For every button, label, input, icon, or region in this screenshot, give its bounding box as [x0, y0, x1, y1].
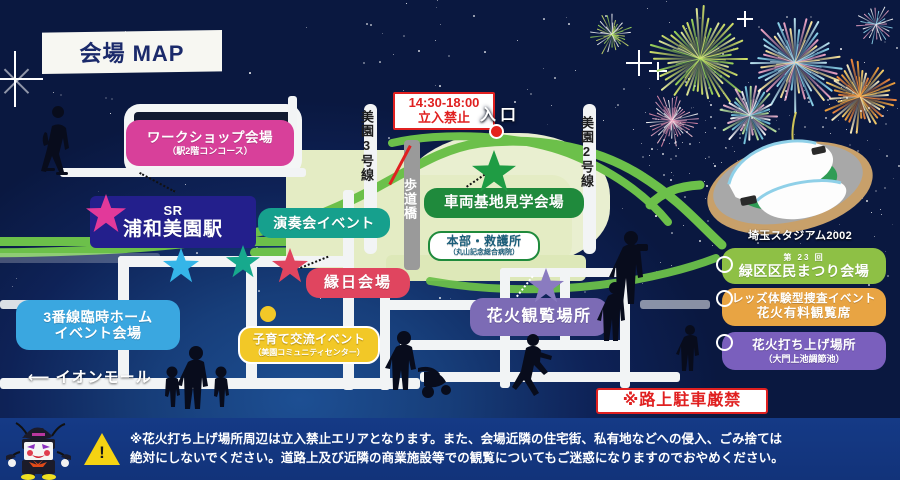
warning-triangle-icon: !	[84, 433, 120, 465]
legend-reds-sub: 花火有料観覧席	[757, 306, 852, 320]
venue-depot[interactable]: 車両基地見学会場	[424, 188, 584, 218]
restriction-text: 立入禁止	[418, 111, 470, 126]
page-title: 会場 MAP	[79, 36, 184, 68]
aeon-mall-direction: ⟵ イオンモール	[28, 366, 152, 387]
footer-notice-line1: ※花火打ち上げ場所周辺は立入禁止エリアとなります。また、会場近隣の住宅街、私有地…	[130, 430, 784, 449]
street-label-misono2: 美園2号線	[580, 116, 593, 188]
venue-hq[interactable]: 本部・救護所 （丸山記念総合病院）	[428, 231, 540, 261]
legend-launch-title: 花火打ち上げ場所	[752, 338, 856, 352]
venue-kosodate-sub: （美園コミュニティセンター）	[253, 348, 365, 357]
venue-concert[interactable]: 演奏会イベント	[258, 208, 390, 238]
venue-station-sub: 浦和美園駅	[123, 219, 223, 241]
legend-marker-circle	[716, 290, 733, 307]
legend-marker-circle	[716, 256, 733, 273]
venue-concert-title: 演奏会イベント	[273, 215, 375, 231]
legend-midori-title: 緑区区民まつり会場	[739, 263, 870, 279]
venue-kosodate[interactable]: 子育て交流イベント （美園コミュニティセンター）	[238, 326, 380, 364]
legend-reds-event[interactable]: レッズ体験型捜査イベント 花火有料観覧席	[722, 288, 886, 326]
legend-launch-sub: （大門上池調節池）	[763, 354, 844, 364]
venue-platform3[interactable]: 3番線臨時ホーム イベント会場	[16, 300, 180, 350]
venue-workshop-sub: （駅2階コンコース）	[167, 146, 253, 156]
map-dot-marker-kosodate	[260, 306, 276, 322]
venue-hq-sub: （丸山記念総合病院）	[449, 249, 519, 257]
venue-depot-title: 車両基地見学会場	[444, 195, 564, 212]
footer-notice-text: ※花火打ち上げ場所周辺は立入禁止エリアとなります。また、会場近隣の住宅街、私有地…	[130, 430, 802, 469]
stadium-illustration	[700, 128, 880, 238]
legend-midori-pre: 第 23 回	[783, 253, 824, 262]
venue-kosodate-title: 子育て交流イベント	[253, 333, 366, 347]
venue-workshop-title: ワークショップ会場	[147, 130, 273, 146]
venue-workshop[interactable]: ワークショップ会場 （駅2階コンコース）	[126, 120, 294, 166]
page-title-banner: 会場 MAP	[42, 30, 222, 74]
legend-reds-title: レッズ体験型捜査イベント	[732, 293, 876, 306]
road-horizontal	[420, 372, 680, 382]
road-horizontal	[640, 300, 710, 309]
no-parking-notice[interactable]: ※路上駐車厳禁	[596, 388, 768, 414]
no-parking-text: ※路上駐車厳禁	[623, 392, 742, 410]
street-label-pedestrian-bridge: 歩道橋	[403, 178, 416, 220]
venue-hq-title: 本部・救護所	[446, 235, 521, 249]
legend-marker-circle	[716, 334, 733, 351]
warning-exclamation: !	[98, 444, 106, 461]
station-platform-bar	[60, 168, 306, 177]
venue-map-poster: SR 浦和美園駅 美園3号線 歩道橋 美園2号線 会場 MAP 14:30-18…	[0, 0, 900, 480]
footer-notice-bar: ! ※花火打ち上げ場所周辺は立入禁止エリアとなります。また、会場近隣の住宅街、私…	[0, 418, 900, 480]
entrance-label: 入口	[480, 101, 520, 125]
venue-station-title: SR	[163, 204, 182, 219]
street-label-misono3: 美園3号線	[360, 110, 373, 182]
entrance-marker-icon	[489, 124, 504, 139]
footer-notice-line2: 絶対にしないでください。道路上及び近隣の商業施設等での観覧についてもご迷惑になり…	[130, 449, 784, 468]
restriction-time: 14:30-18:00	[409, 96, 480, 111]
road-horizontal	[500, 268, 630, 277]
venue-ennichi-title: 縁日会場	[324, 274, 392, 291]
road-vertical	[620, 268, 630, 388]
mascot-icon	[0, 418, 78, 480]
venue-hanabi-view[interactable]: 花火観覧場所	[470, 298, 608, 336]
venue-ennichi[interactable]: 縁日会場	[306, 268, 410, 298]
venue-platform3-sub: イベント会場	[55, 325, 142, 341]
legend-midori-matsuri[interactable]: 第 23 回 緑区区民まつり会場	[722, 248, 886, 284]
stadium-caption: 埼玉スタジアム2002	[748, 227, 852, 243]
road-horizontal	[400, 340, 630, 350]
venue-platform3-title: 3番線臨時ホーム	[43, 309, 152, 325]
venue-hanabi-view-title: 花火観覧場所	[486, 308, 591, 326]
legend-launch-site[interactable]: 花火打ち上げ場所 （大門上池調節池）	[722, 332, 886, 370]
